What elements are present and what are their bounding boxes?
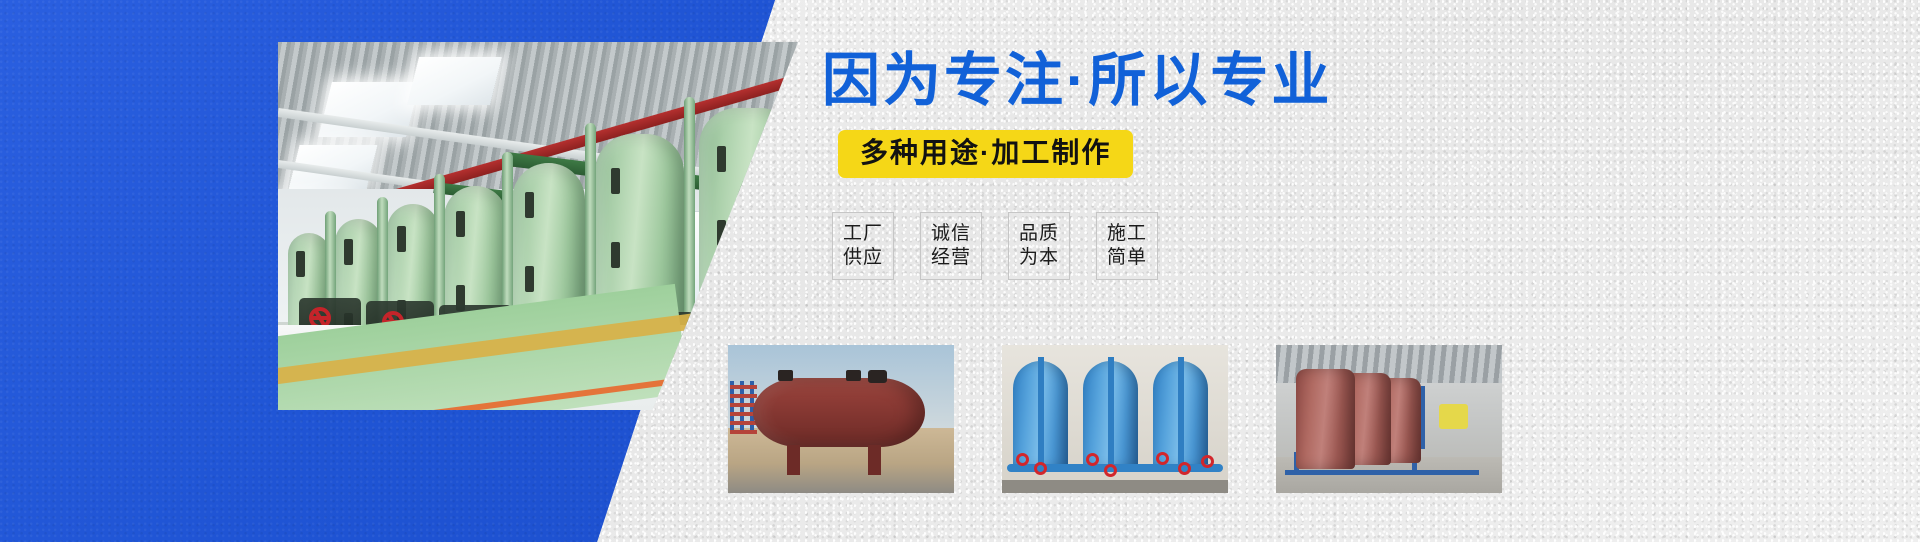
promo-banner: 因为专注·所以专业 多种用途·加工制作 工厂 供应 诚信 经营 品质 为本 施工… <box>0 0 1920 542</box>
feature-box-easy-install: 施工 简单 <box>1096 212 1158 280</box>
red-tank-body <box>753 378 925 448</box>
feature-line-2: 供应 <box>843 246 883 270</box>
valve-wheel-icon <box>1201 455 1214 468</box>
floor <box>1002 480 1228 493</box>
tank-nozzle <box>868 370 887 383</box>
thumbnail-list <box>728 345 1502 493</box>
support-frame <box>1421 386 1425 448</box>
thumbnail-horizontal-red-tank[interactable] <box>728 345 954 493</box>
valve-wheel-icon <box>1034 462 1047 475</box>
feature-box-factory-supply: 工厂 供应 <box>832 212 894 280</box>
feature-box-integrity: 诚信 经营 <box>920 212 982 280</box>
feature-line-2: 为本 <box>1019 246 1059 270</box>
feature-line-1: 品质 <box>1019 222 1059 246</box>
feature-box-quality: 品质 为本 <box>1008 212 1070 280</box>
content-column: 因为专注·所以专业 多种用途·加工制作 工厂 供应 诚信 经营 品质 为本 施工… <box>818 0 1920 542</box>
red-tank <box>1296 369 1355 470</box>
subtitle-badge: 多种用途·加工制作 <box>838 130 1133 178</box>
riser-pipe <box>1108 357 1114 469</box>
feature-box-list: 工厂 供应 诚信 经营 品质 为本 施工 简单 <box>832 212 1158 280</box>
thumbnail-blue-vertical-filters[interactable] <box>1002 345 1228 493</box>
yellow-vessel <box>1439 404 1468 429</box>
skylight <box>407 57 502 105</box>
subtitle-text: 多种用途·加工制作 <box>860 137 1111 169</box>
feature-line-2: 经营 <box>931 246 971 270</box>
page-title: 因为专注·所以专业 <box>822 52 1332 110</box>
tank-nozzle <box>778 370 793 381</box>
support-frame <box>1285 470 1479 475</box>
tank-leg <box>868 445 881 475</box>
feature-line-2: 简单 <box>1107 246 1147 270</box>
tank-lid <box>1299 363 1353 375</box>
valve-wheel-icon <box>1086 453 1099 466</box>
valve-wheel-icon <box>1156 452 1169 465</box>
riser-pipe <box>1038 357 1044 469</box>
tank-leg <box>787 445 800 475</box>
vertical-pipe <box>684 97 695 344</box>
feature-line-1: 诚信 <box>931 222 971 246</box>
valve-wheel-icon <box>1016 453 1029 466</box>
valve-wheel-icon <box>1104 464 1117 477</box>
feature-line-1: 工厂 <box>843 222 883 246</box>
thumbnail-red-vertical-tanks[interactable] <box>1276 345 1502 493</box>
tank-nozzle <box>846 370 861 381</box>
feature-line-1: 施工 <box>1107 222 1147 246</box>
riser-pipe <box>1178 357 1184 469</box>
